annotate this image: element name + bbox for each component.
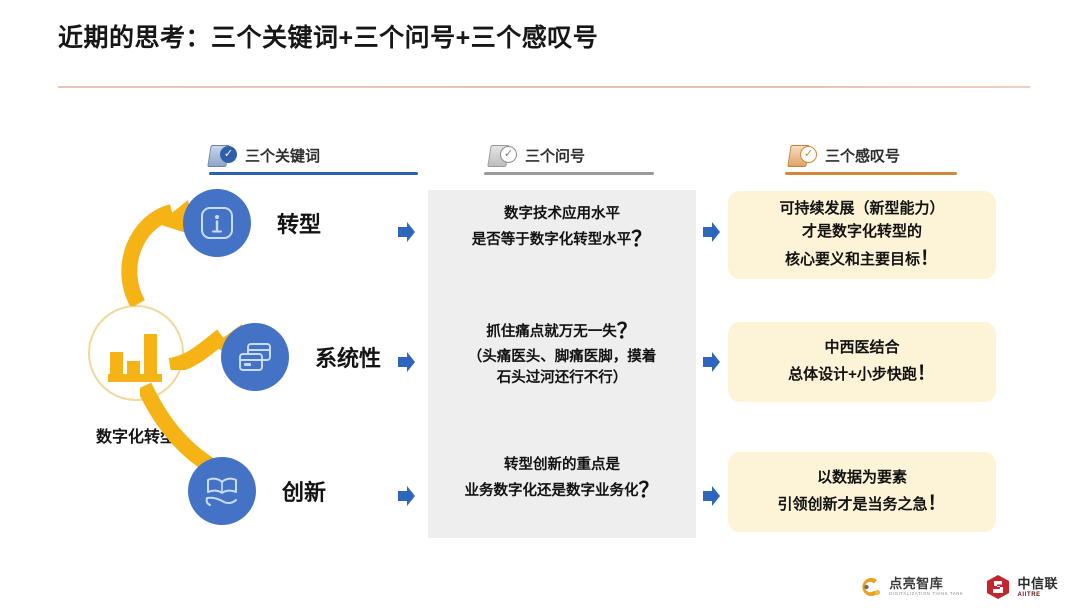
page-title: 近期的思考：三个关键词+三个问号+三个感叹号 bbox=[58, 18, 598, 54]
column-header-label: 三个问号 bbox=[525, 145, 585, 166]
column-header-label: 三个感叹号 bbox=[825, 145, 900, 166]
flow-arrow-icon bbox=[398, 486, 415, 506]
hand-book-icon bbox=[202, 471, 242, 511]
question-block: 转型创新的重点是 业务数字化还是数字业务化？ bbox=[428, 455, 696, 506]
answer-line: 引领创新才是当务之急！ bbox=[777, 489, 946, 518]
column-underline-keywords bbox=[209, 172, 418, 175]
cards-stack-icon bbox=[236, 338, 274, 376]
flow-arrow-icon bbox=[703, 222, 720, 242]
column-underline-questions bbox=[484, 172, 654, 175]
answer-line: 以数据为要素 bbox=[817, 466, 907, 489]
answer-line: 可持续发展（新型能力） bbox=[779, 197, 944, 220]
question-mark: ？ bbox=[631, 228, 652, 251]
logo-name-en: AIITRE bbox=[1017, 591, 1058, 598]
logo-name-cn: 中信联 bbox=[1017, 577, 1058, 590]
answer-line: 核心要义和主要目标！ bbox=[785, 244, 939, 273]
footer-logos: 点亮智库 DIGITALIZATION THINK TANK 中信联 AIITR… bbox=[857, 574, 1058, 600]
question-line: 数字技术应用水平 bbox=[428, 204, 696, 225]
dianliang-logo-text: 点亮智库 DIGITALIZATION THINK TANK bbox=[889, 577, 963, 596]
column-underline-exclamations bbox=[785, 172, 957, 175]
column-header-keywords: ✓ 三个关键词 bbox=[209, 142, 320, 169]
aiitre-logo-icon bbox=[985, 574, 1011, 600]
dianliang-logo: 点亮智库 DIGITALIZATION THINK TANK bbox=[857, 574, 963, 600]
document-check-icon: ✓ bbox=[489, 142, 516, 169]
flow-arrow-icon bbox=[398, 222, 415, 242]
keyword-row[interactable]: 创新 bbox=[188, 457, 326, 525]
exclamation-mark: ！ bbox=[928, 493, 947, 514]
answer-card: 中西医结合 总体设计+小步快跑！ bbox=[728, 322, 996, 402]
keyword-row[interactable]: 转型 bbox=[183, 189, 321, 257]
keyword-label: 系统性 bbox=[315, 341, 381, 373]
column-header-label: 三个关键词 bbox=[245, 145, 320, 166]
keyword-label: 创新 bbox=[282, 475, 326, 507]
keyword-icon-badge bbox=[221, 323, 289, 391]
question-line: 抓住痛点就万无一失？ bbox=[428, 317, 696, 347]
flow-arrow-icon bbox=[703, 486, 720, 506]
question-mark: ？ bbox=[639, 479, 660, 502]
dianliang-logo-icon bbox=[857, 574, 883, 600]
logo-name-cn: 点亮智库 bbox=[889, 577, 963, 590]
logo-name-en: DIGITALIZATION THINK TANK bbox=[889, 592, 963, 597]
title-divider bbox=[58, 86, 1030, 88]
question-line: 业务数字化还是数字业务化？ bbox=[428, 476, 696, 506]
question-block: 抓住痛点就万无一失？ （头痛医头、脚痛医脚，摸着 石头过河还行不行） bbox=[428, 317, 696, 389]
question-block: 数字技术应用水平 是否等于数字化转型水平？ bbox=[428, 204, 696, 255]
answer-line: 总体设计+小步快跑！ bbox=[788, 359, 936, 388]
column-header-exclamations: ✓ 三个感叹号 bbox=[789, 142, 900, 169]
exclamation-mark: ！ bbox=[917, 363, 936, 384]
document-check-icon: ✓ bbox=[209, 142, 236, 169]
question-line: 是否等于数字化转型水平？ bbox=[428, 225, 696, 255]
answer-line: 中西医结合 bbox=[824, 336, 899, 359]
question-line: 石头过河还行不行） bbox=[428, 368, 696, 389]
answer-line: 才是数字化转型的 bbox=[802, 220, 922, 243]
exclamation-mark: ！ bbox=[920, 248, 939, 269]
answer-card: 可持续发展（新型能力） 才是数字化转型的 核心要义和主要目标！ bbox=[728, 191, 996, 279]
question-mark: ？ bbox=[617, 320, 638, 343]
column-header-questions: ✓ 三个问号 bbox=[489, 142, 585, 169]
keyword-icon-badge bbox=[183, 189, 251, 257]
aiitre-logo: 中信联 AIITRE bbox=[985, 574, 1058, 600]
keyword-row[interactable]: 系统性 bbox=[221, 323, 381, 391]
question-line: （头痛医头、脚痛医脚，摸着 bbox=[428, 347, 696, 368]
question-line: 转型创新的重点是 bbox=[428, 455, 696, 476]
answer-card: 以数据为要素 引领创新才是当务之急！ bbox=[728, 452, 996, 532]
info-square-icon bbox=[198, 204, 236, 242]
keyword-icon-badge bbox=[188, 457, 256, 525]
keyword-label: 转型 bbox=[277, 207, 321, 239]
aiitre-logo-text: 中信联 AIITRE bbox=[1017, 577, 1058, 598]
document-check-icon: ✓ bbox=[789, 142, 816, 169]
flow-arrow-icon bbox=[398, 352, 415, 372]
flow-arrow-icon bbox=[703, 352, 720, 372]
bar-chart-icon bbox=[108, 330, 166, 382]
